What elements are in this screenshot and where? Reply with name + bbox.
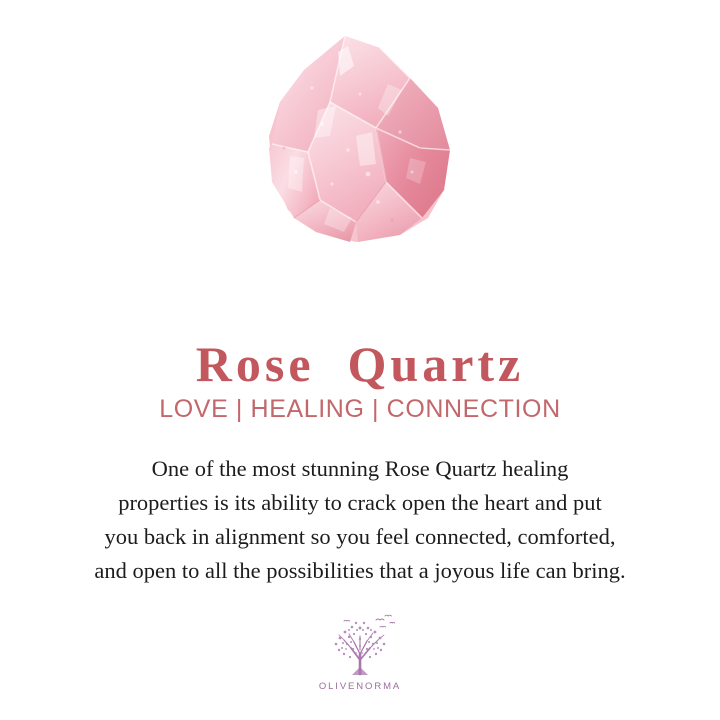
description-text: One of the most stunning Rose Quartz hea… [18,452,702,588]
crystal-image-container [0,0,720,268]
subtitle-keywords: LOVE | HEALING | CONNECTION [0,396,720,424]
brand-wordmark: OLIVENORMA [319,681,401,692]
description-line: and open to all the possibilities that a… [18,554,702,588]
raw-rose-quartz-crystal-icon [260,32,460,250]
brand-logo: OLIVENORMA [0,610,720,692]
olivenorma-tree-icon [318,610,402,678]
rose-quartz-poster: Rose Quartz LOVE | HEALING | CONNECTION … [0,0,720,720]
page-title: Rose Quartz [0,337,720,391]
description-line: One of the most stunning Rose Quartz hea… [18,452,702,486]
description-line: you back in alignment so you feel connec… [18,520,702,554]
description-line: properties is its ability to crack open … [18,486,702,520]
